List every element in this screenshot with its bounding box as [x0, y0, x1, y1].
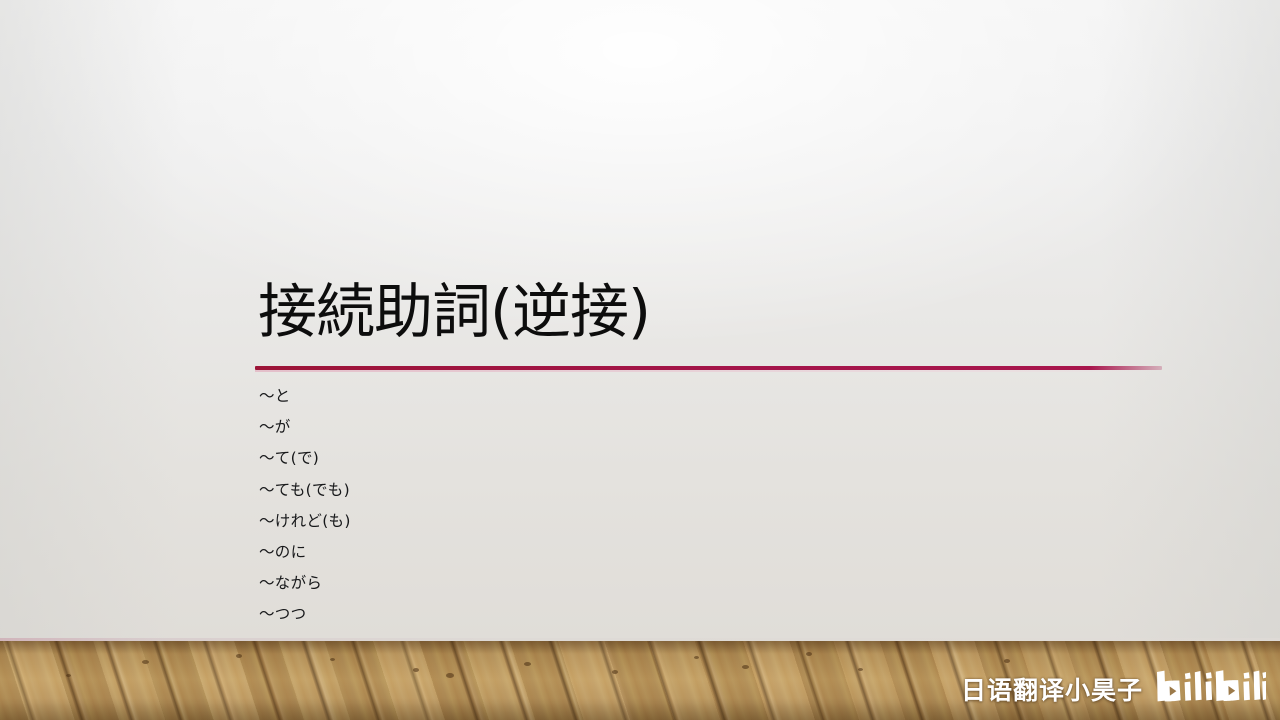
list-item: ～つつ — [259, 599, 739, 630]
list-item: ～と — [259, 381, 739, 412]
slide-screenshot: 接続助詞(逆接) ～と ～が ～て(で) ～ても(でも) ～けれど(も) ～のに… — [0, 0, 1280, 720]
list-item: ～のに — [259, 537, 739, 568]
slide-title: 接続助詞(逆接) — [258, 279, 650, 345]
list-item: ～けれど(も) — [259, 506, 739, 537]
list-item: ～ても(でも) — [259, 475, 739, 506]
bilibili-logo-icon — [1154, 669, 1266, 709]
conjunctive-particle-list: ～と ～が ～て(で) ～ても(でも) ～けれど(も) ～のに ～ながら ～つつ — [259, 381, 739, 631]
list-item: ～て(で) — [259, 443, 739, 474]
list-item: ～ながら — [259, 568, 739, 599]
title-underline-rule — [255, 366, 1162, 370]
list-item: ～が — [259, 412, 739, 443]
watermark-channel-name: 日语翻译小昊子 — [961, 671, 1143, 707]
watermark: 日语翻译小昊子 — [961, 669, 1266, 709]
